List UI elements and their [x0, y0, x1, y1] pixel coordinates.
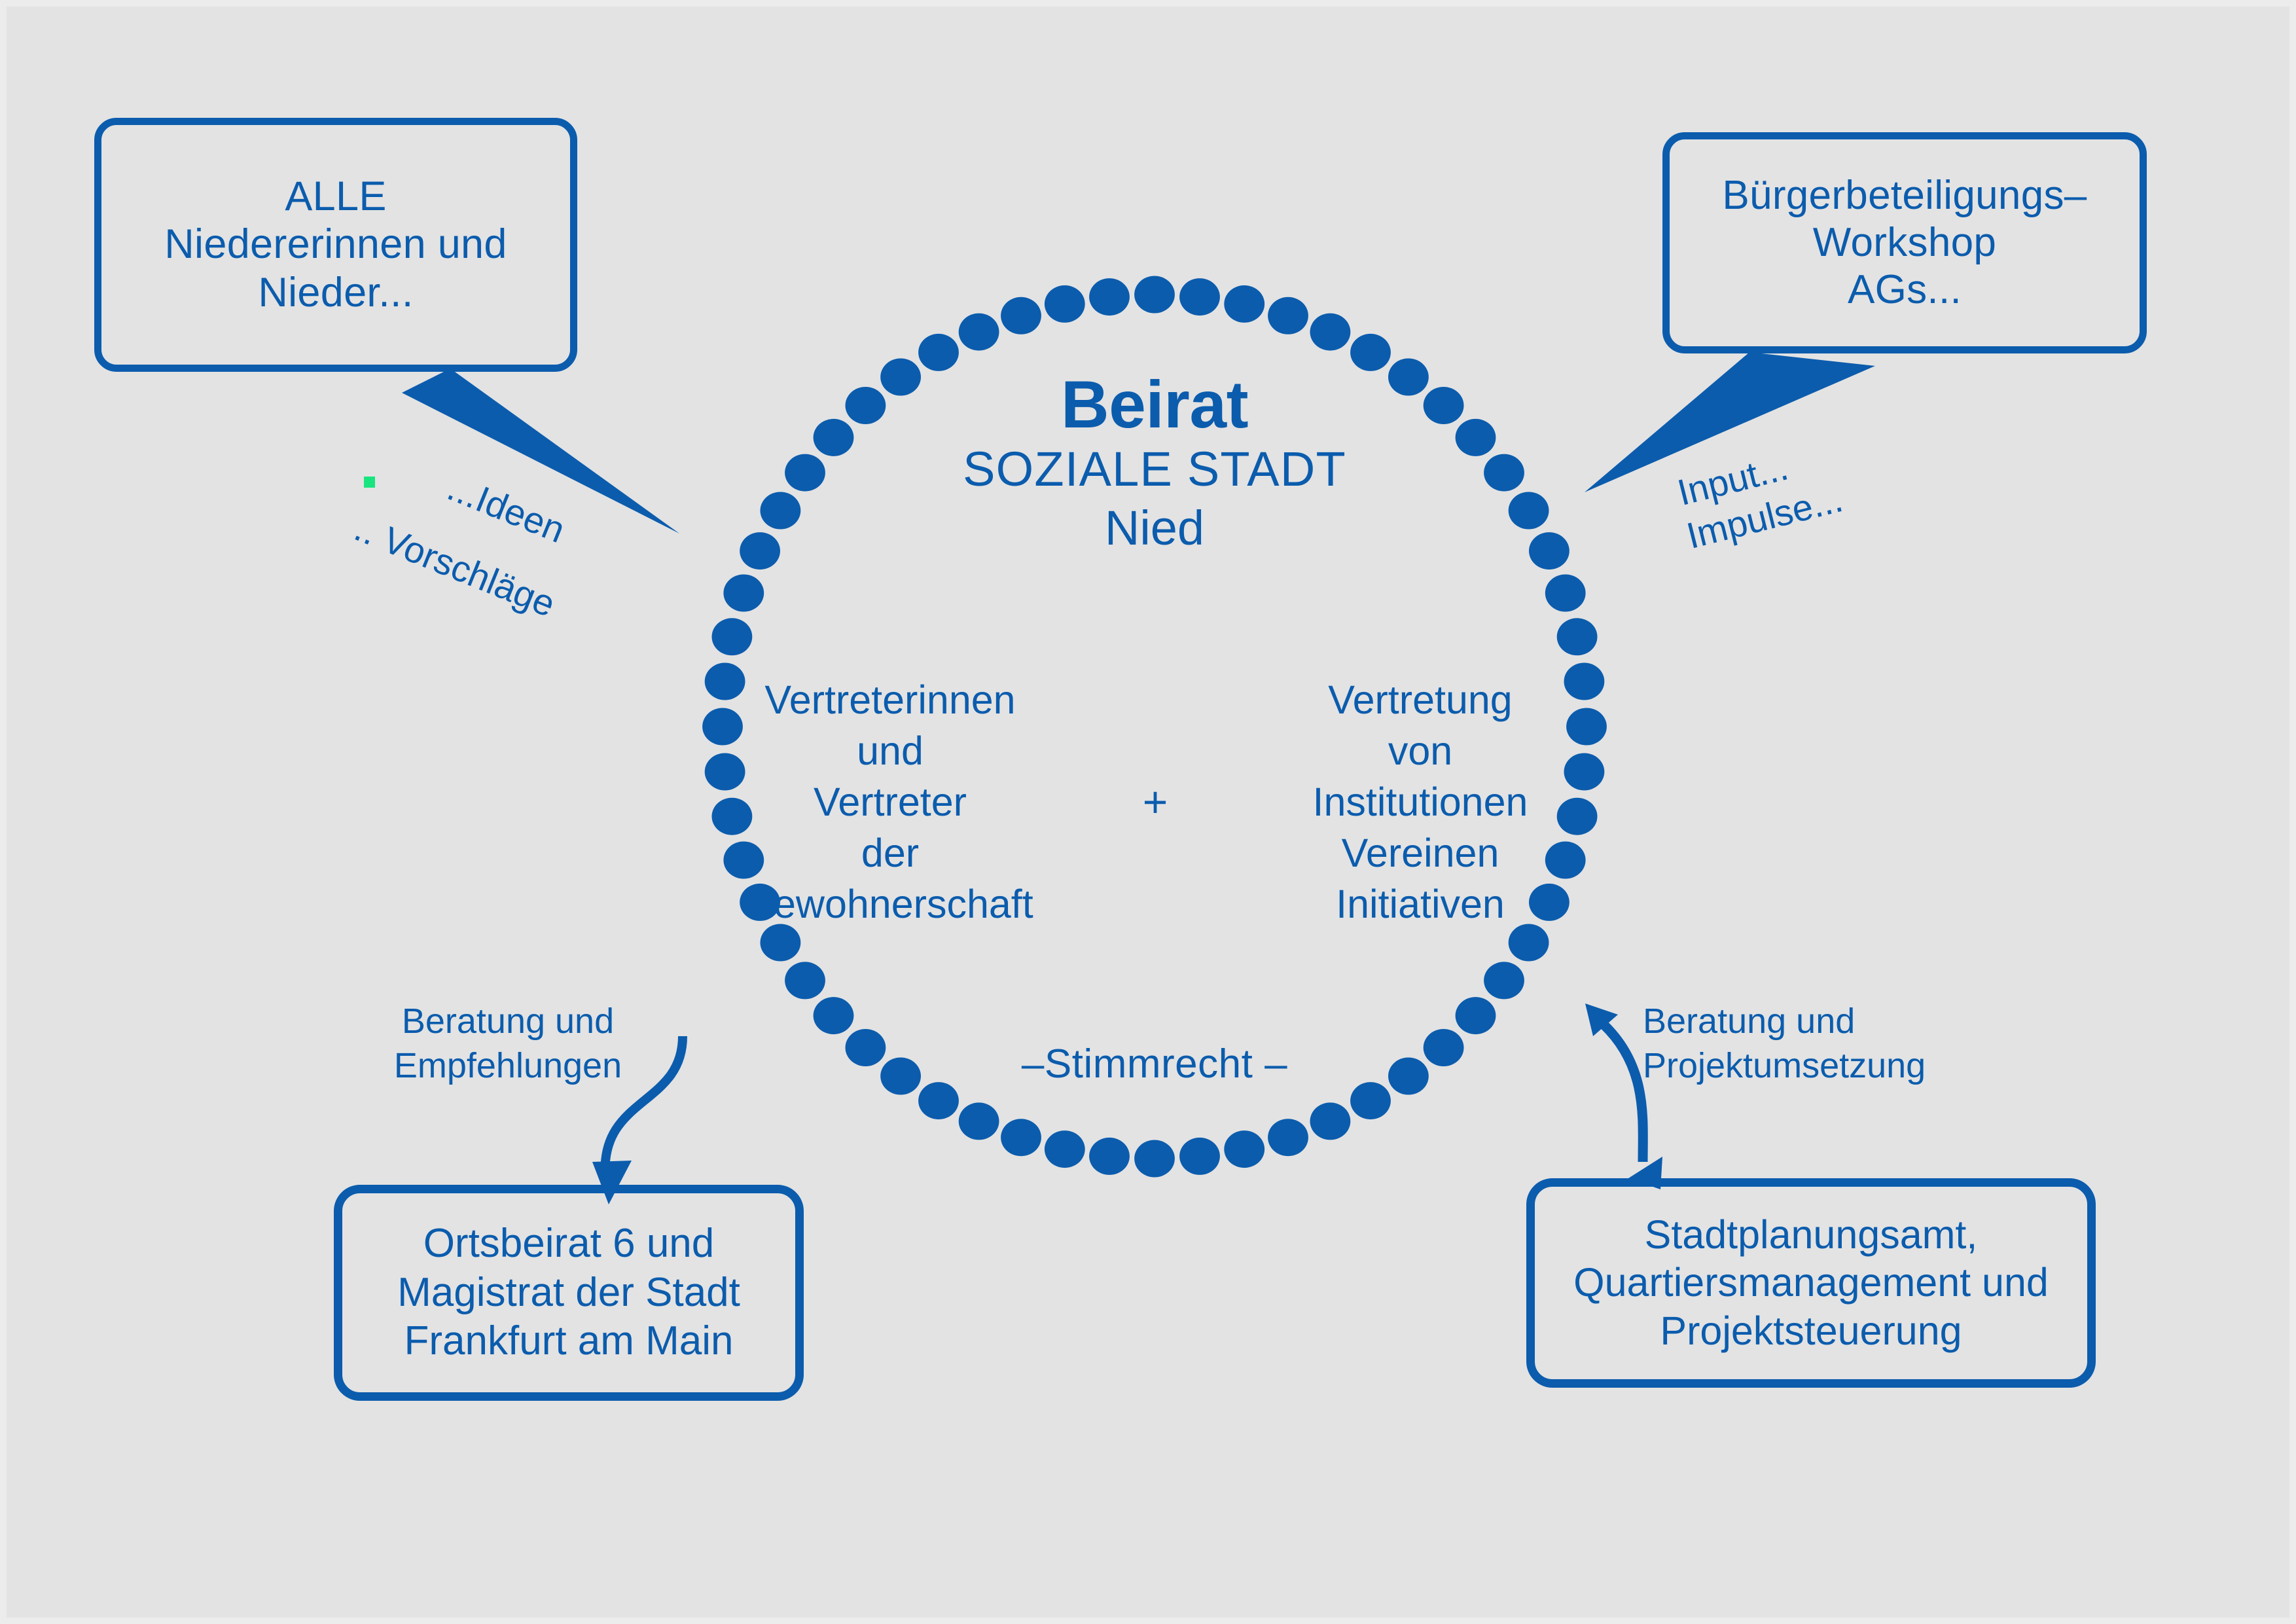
circle-dot	[1224, 285, 1265, 323]
circle-dot	[785, 962, 825, 999]
circle-dot	[1545, 575, 1586, 612]
speech-bubble-alle[interactable]: ALLE Niedererinnen und Nieder...	[94, 118, 577, 372]
green-marker-square	[364, 477, 375, 488]
plus-operator: +	[1129, 780, 1181, 823]
circle-left-column: Vertreterinnen und Vertreter der Bewohne…	[707, 674, 1073, 929]
ortsbeirat-line-2: Magistrat der Stadt	[397, 1270, 740, 1315]
circle-dot	[1045, 1130, 1085, 1168]
circle-dot	[785, 454, 825, 492]
speech-bubble-alle-text: ALLE Niedererinnen und Nieder...	[164, 173, 507, 316]
circle-dot	[1310, 1102, 1351, 1140]
bubble-workshop-line-2: Workshop	[1722, 219, 2087, 266]
circle-title-block: Beirat SOZIALE STADT Nied	[827, 370, 1482, 558]
circle-dot	[1484, 454, 1524, 492]
page-title: Beirat	[827, 370, 1482, 440]
circle-dot	[1224, 1130, 1265, 1168]
arrow-right-head-up	[1585, 1003, 1618, 1036]
circle-dot	[1089, 1138, 1130, 1175]
beratung-left-line-2: Empfehlungen	[370, 1043, 645, 1088]
circle-dot	[1089, 278, 1130, 316]
circle-dot	[1484, 962, 1524, 999]
circle-dot	[1456, 997, 1496, 1034]
beratung-right-line-1: Beratung und	[1643, 999, 1970, 1043]
circle-dot	[1179, 1138, 1220, 1175]
right-col-line-5: Initiativen	[1237, 878, 1604, 929]
box-stadtplanungsamt[interactable]: Stadtplanungsamt, Quartiersmanagement un…	[1526, 1178, 2096, 1388]
circle-dot	[1268, 1119, 1308, 1156]
speech-bubble-workshop-text: Bürgerbeteiligungs– Workshop AGs...	[1722, 172, 2087, 314]
circle-dot	[1529, 532, 1570, 569]
circle-dot	[959, 1102, 999, 1140]
circle-dot	[1509, 492, 1549, 530]
circle-dot	[814, 997, 854, 1034]
beratung-right-line-2: Projektumsetzung	[1643, 1043, 1970, 1088]
circle-footer-stimmrecht: –Stimmrecht –	[827, 1041, 1482, 1087]
left-col-line-2: und	[707, 725, 1073, 776]
bubble-alle-line-1: ALLE	[164, 173, 507, 221]
bubble-alle-line-2: Niedererinnen und	[164, 221, 507, 268]
ortsbeirat-line-1: Ortsbeirat 6 und	[423, 1221, 715, 1266]
circle-dot	[712, 618, 753, 655]
circle-subtitle: SOZIALE STADT	[827, 440, 1482, 499]
circle-dot	[1310, 314, 1351, 351]
annotation-beratung-projektumsetzung: Beratung und Projektumsetzung	[1643, 999, 1970, 1088]
diagram-canvas: ALLE Niedererinnen und Nieder... Bürgerb…	[0, 0, 2296, 1624]
circle-dot	[1557, 618, 1598, 655]
circle-dot	[918, 1082, 959, 1119]
left-col-line-4: der	[707, 827, 1073, 878]
circle-dot	[918, 334, 959, 371]
circle-dot	[1134, 1140, 1175, 1178]
bubble-workshop-line-3: AGs...	[1722, 266, 2087, 314]
circle-place: Nied	[827, 499, 1482, 558]
right-col-line-2: von	[1237, 725, 1604, 776]
circle-dot	[1134, 276, 1175, 314]
ortsbeirat-line-3: Frankfurt am Main	[404, 1318, 733, 1363]
annotation-beratung-empfehlungen: Beratung und Empfehlungen	[370, 999, 645, 1088]
circle-right-column: Vertretung von Institutionen Vereinen In…	[1237, 674, 1604, 929]
circle-dot	[761, 492, 801, 530]
right-col-line-1: Vertretung	[1237, 674, 1604, 725]
circle-dot	[959, 314, 999, 351]
beratung-left-line-1: Beratung und	[370, 999, 645, 1043]
left-col-line-3: Vertreter	[707, 776, 1073, 827]
right-col-line-3: Institutionen	[1237, 776, 1604, 827]
stadtplanung-line-2: Quartiersmanagement	[1573, 1260, 1971, 1305]
box-ortsbeirat-text: Ortsbeirat 6 und Magistrat der Stadt Fra…	[342, 1219, 795, 1365]
circle-dot	[1045, 285, 1085, 323]
circle-dot	[1001, 1119, 1041, 1156]
circle-dot	[1001, 297, 1041, 334]
stadtplanung-line-1: Stadtplanungsamt,	[1645, 1212, 1978, 1257]
circle-dot	[1350, 1082, 1391, 1119]
bubble-workshop-line-1: Bürgerbeteiligungs–	[1722, 172, 2087, 219]
circle-dot	[723, 575, 764, 612]
left-col-line-5: Bewohnerschaft	[707, 878, 1073, 929]
bubble-alle-line-3: Nieder...	[164, 269, 507, 317]
box-stadtplanung-text: Stadtplanungsamt, Quartiersmanagement un…	[1535, 1211, 2087, 1355]
speech-bubble-workshop[interactable]: Bürgerbeteiligungs– Workshop AGs...	[1662, 132, 2147, 353]
arrow-right-curve	[1604, 1024, 1643, 1162]
circle-dot	[1179, 278, 1220, 316]
box-ortsbeirat-magistrat[interactable]: Ortsbeirat 6 und Magistrat der Stadt Fra…	[334, 1185, 804, 1401]
left-col-line-1: Vertreterinnen	[707, 674, 1073, 725]
circle-dot	[740, 532, 780, 569]
circle-dot	[1350, 334, 1391, 371]
circle-dot	[1268, 297, 1308, 334]
right-col-line-4: Vereinen	[1237, 827, 1604, 878]
circle-columns: Vertreterinnen und Vertreter der Bewohne…	[707, 674, 1604, 929]
annotation-ideen: ...Ideen	[441, 465, 571, 552]
